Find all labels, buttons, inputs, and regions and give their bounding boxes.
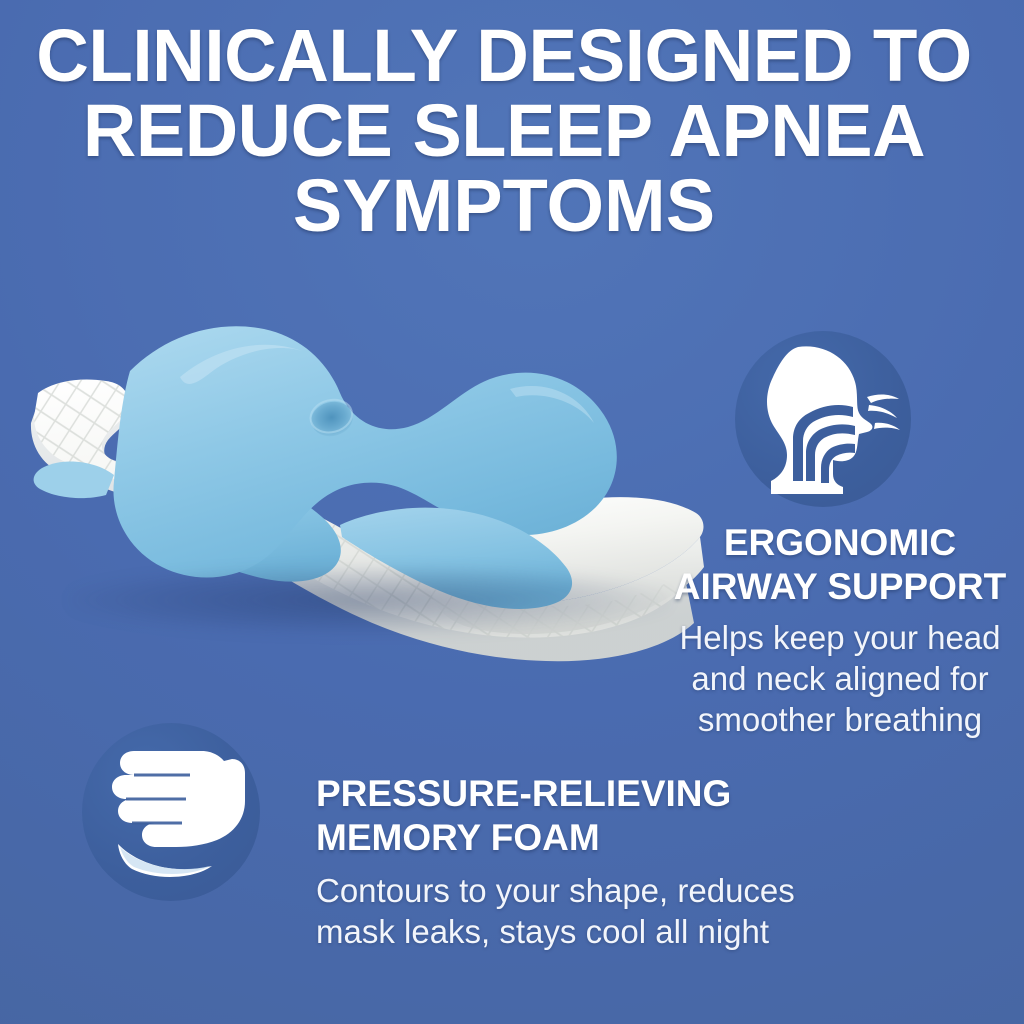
- feature-airway-body: Helps keep your head and neck aligned fo…: [648, 617, 1024, 740]
- airway-icon-circle: [735, 331, 911, 507]
- breathing-head-icon: [735, 331, 911, 507]
- feature-memory-foam: PRESSURE-RELIEVING MEMORY FOAM Contours …: [316, 772, 856, 952]
- headline-line-3: SYMPTOMS: [28, 168, 980, 243]
- headline-line-1: CLINICALLY DESIGNED TO: [35, 18, 973, 93]
- feature-foam-title: PRESSURE-RELIEVING MEMORY FOAM: [316, 772, 856, 860]
- feature-foam-title-line-2: MEMORY FOAM: [316, 816, 856, 860]
- feature-airway-title-line-1: ERGONOMIC: [648, 521, 1024, 565]
- feature-foam-body-line-2: mask leaks, stays cool all night: [316, 911, 856, 952]
- headline-line-2: REDUCE SLEEP APNEA: [28, 93, 980, 168]
- product-infographic: CLINICALLY DESIGNED TO REDUCE SLEEP APNE…: [0, 0, 1024, 1024]
- feature-foam-body-line-1: Contours to your shape, reduces: [316, 870, 856, 911]
- feature-airway-body-line-3: smoother breathing: [648, 699, 1024, 740]
- page-title: CLINICALLY DESIGNED TO REDUCE SLEEP APNE…: [28, 18, 980, 243]
- feature-foam-title-line-1: PRESSURE-RELIEVING: [316, 772, 856, 816]
- product-image: [10, 285, 710, 665]
- feature-airway-support: ERGONOMIC AIRWAY SUPPORT Helps keep your…: [648, 521, 1024, 740]
- hand-pressing-foam-icon: [82, 723, 260, 901]
- feature-airway-title-line-2: AIRWAY SUPPORT: [648, 565, 1024, 609]
- feature-foam-body: Contours to your shape, reduces mask lea…: [316, 870, 856, 952]
- memory-foam-icon-circle: [82, 723, 260, 901]
- product-drop-shadow: [70, 565, 670, 635]
- feature-airway-body-line-2: and neck aligned for: [648, 658, 1024, 699]
- feature-airway-title: ERGONOMIC AIRWAY SUPPORT: [648, 521, 1024, 609]
- feature-airway-body-line-1: Helps keep your head: [648, 617, 1024, 658]
